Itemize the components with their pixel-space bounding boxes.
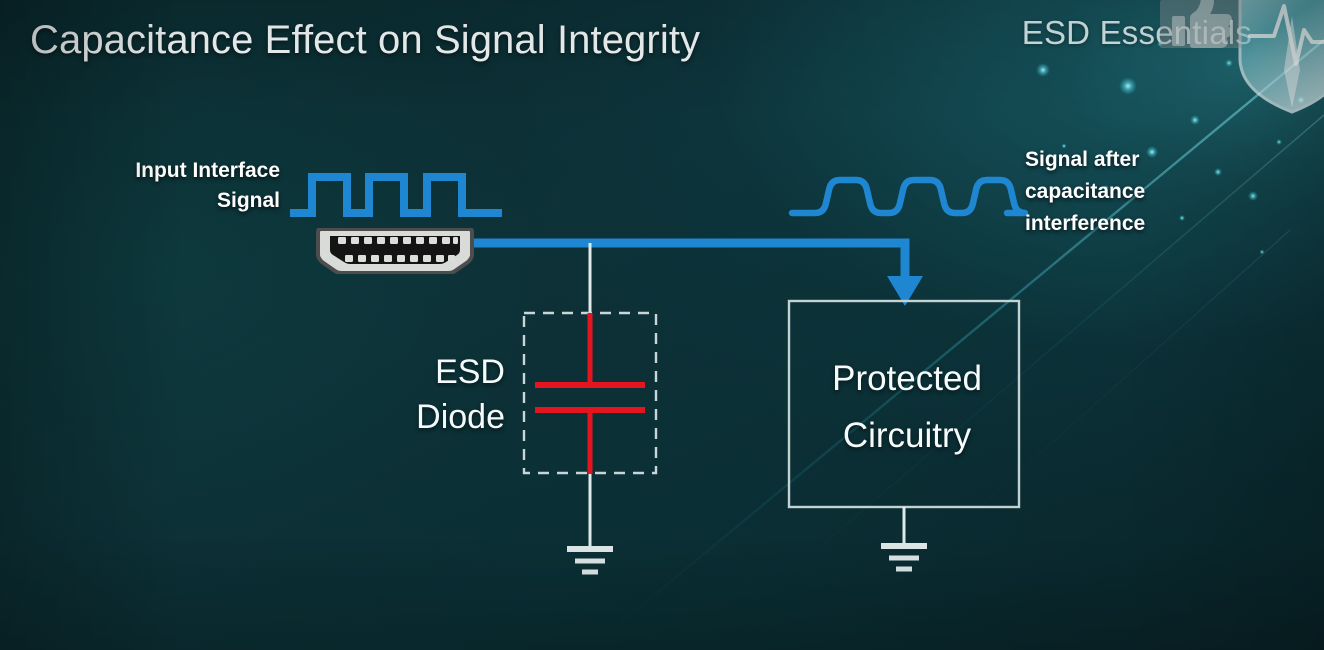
circuit-diagram: [0, 0, 1324, 650]
after-capacitance-label-line3: interference: [1025, 208, 1275, 240]
input-signal-label: Input Interface Signal: [40, 156, 280, 216]
after-capacitance-label-line1: Signal after: [1025, 144, 1275, 176]
hdmi-connector-icon: [312, 228, 478, 274]
after-capacitance-label-line2: capacitance: [1025, 176, 1275, 208]
input-signal-label-line2: Signal: [40, 186, 280, 216]
capacitor-symbol: [535, 313, 645, 474]
signal-flow-arrow: [474, 243, 923, 306]
protected-circuitry-label-line1: Protected: [793, 350, 1021, 407]
ground-symbol-left: [567, 549, 613, 572]
after-capacitance-label: Signal after capacitance interference: [1025, 144, 1275, 240]
protected-circuitry-label: Protected Circuitry: [793, 350, 1021, 465]
input-signal-label-line1: Input Interface: [40, 156, 280, 186]
esd-diode-label: ESD Diode: [370, 350, 505, 440]
clean-square-waveform: [290, 177, 502, 213]
distorted-waveform: [792, 180, 1025, 213]
esd-diode-label-line2: Diode: [370, 395, 505, 440]
ground-symbol-right: [881, 507, 927, 569]
protected-circuitry-label-line2: Circuitry: [793, 407, 1021, 464]
esd-diode-label-line1: ESD: [370, 350, 505, 395]
slide-canvas: Capacitance Effect on Signal Integrity E…: [0, 0, 1324, 650]
hdmi-pins-bottom: [345, 255, 455, 262]
